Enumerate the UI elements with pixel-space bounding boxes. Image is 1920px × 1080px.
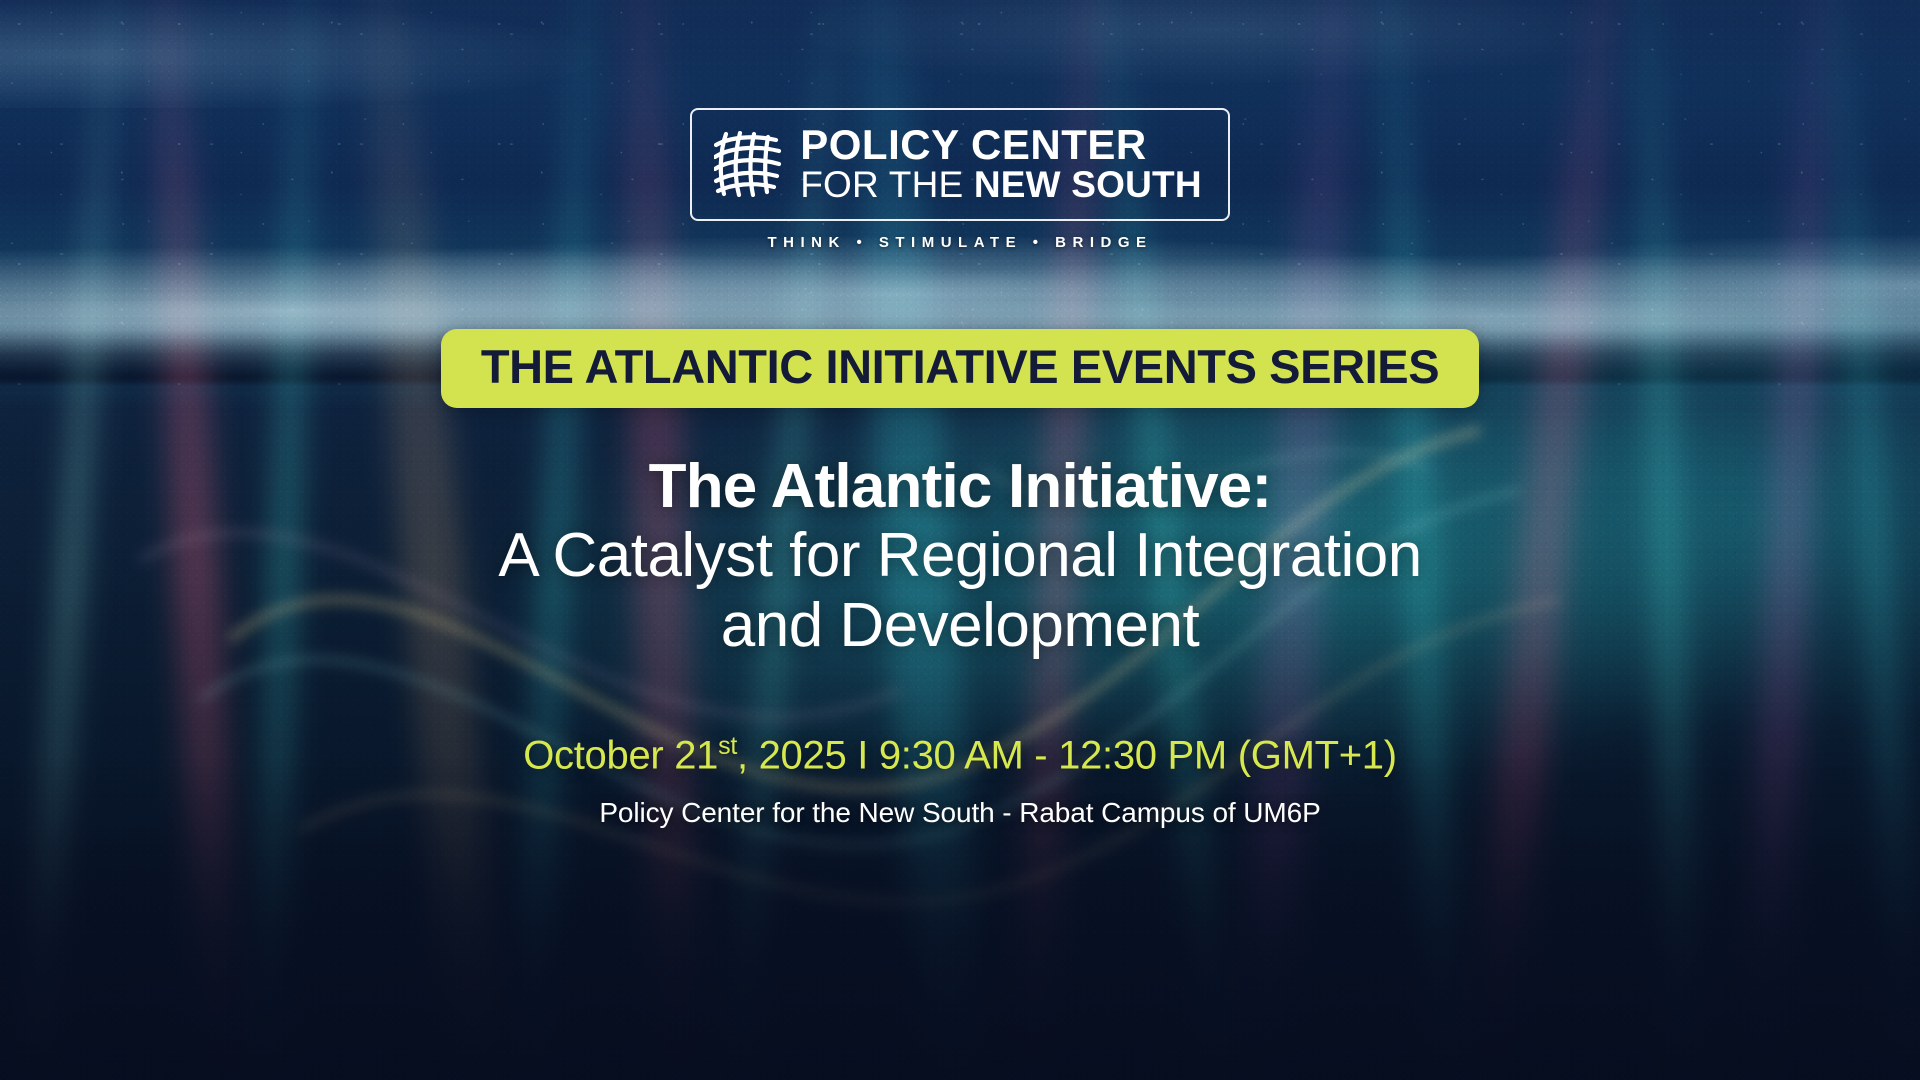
brand-lockup: POLICY CENTER FOR THE NEW SOUTH THINK • … — [690, 108, 1230, 251]
event-title-line-1: The Atlantic Initiative: — [498, 454, 1421, 521]
event-date: October 21 — [523, 734, 718, 778]
logo-frame: POLICY CENTER FOR THE NEW SOUTH — [690, 108, 1230, 221]
event-datetime: October 21st, 2025 I 9:30 AM - 12:30 PM … — [523, 732, 1397, 778]
event-title-line-2: A Catalyst for Regional Integration — [498, 521, 1421, 590]
event-venue: Policy Center for the New South - Rabat … — [599, 797, 1320, 829]
event-time-range: , 2025 I 9:30 AM - 12:30 PM (GMT+1) — [737, 734, 1397, 778]
logo-wordmark: POLICY CENTER FOR THE NEW SOUTH — [800, 124, 1202, 203]
series-banner-label: THE ATLANTIC INITIATIVE EVENTS SERIES — [481, 343, 1439, 390]
logo-line-policy-center: POLICY CENTER — [800, 124, 1202, 165]
series-banner: THE ATLANTIC INITIATIVE EVENTS SERIES — [441, 329, 1479, 408]
logo-new-south: NEW SOUTH — [974, 164, 1202, 205]
globe-mesh-icon — [714, 131, 782, 197]
event-date-ordinal: st — [718, 732, 737, 760]
event-title: The Atlantic Initiative: A Catalyst for … — [498, 454, 1421, 660]
logo-line-for-the-new-south: FOR THE NEW SOUTH — [800, 167, 1202, 203]
brand-tagline: THINK • STIMULATE • BRIDGE — [767, 234, 1152, 251]
event-title-line-3: and Development — [498, 591, 1421, 660]
poster-content: POLICY CENTER FOR THE NEW SOUTH THINK • … — [0, 0, 1920, 1080]
logo-for-the: FOR THE — [800, 164, 974, 205]
